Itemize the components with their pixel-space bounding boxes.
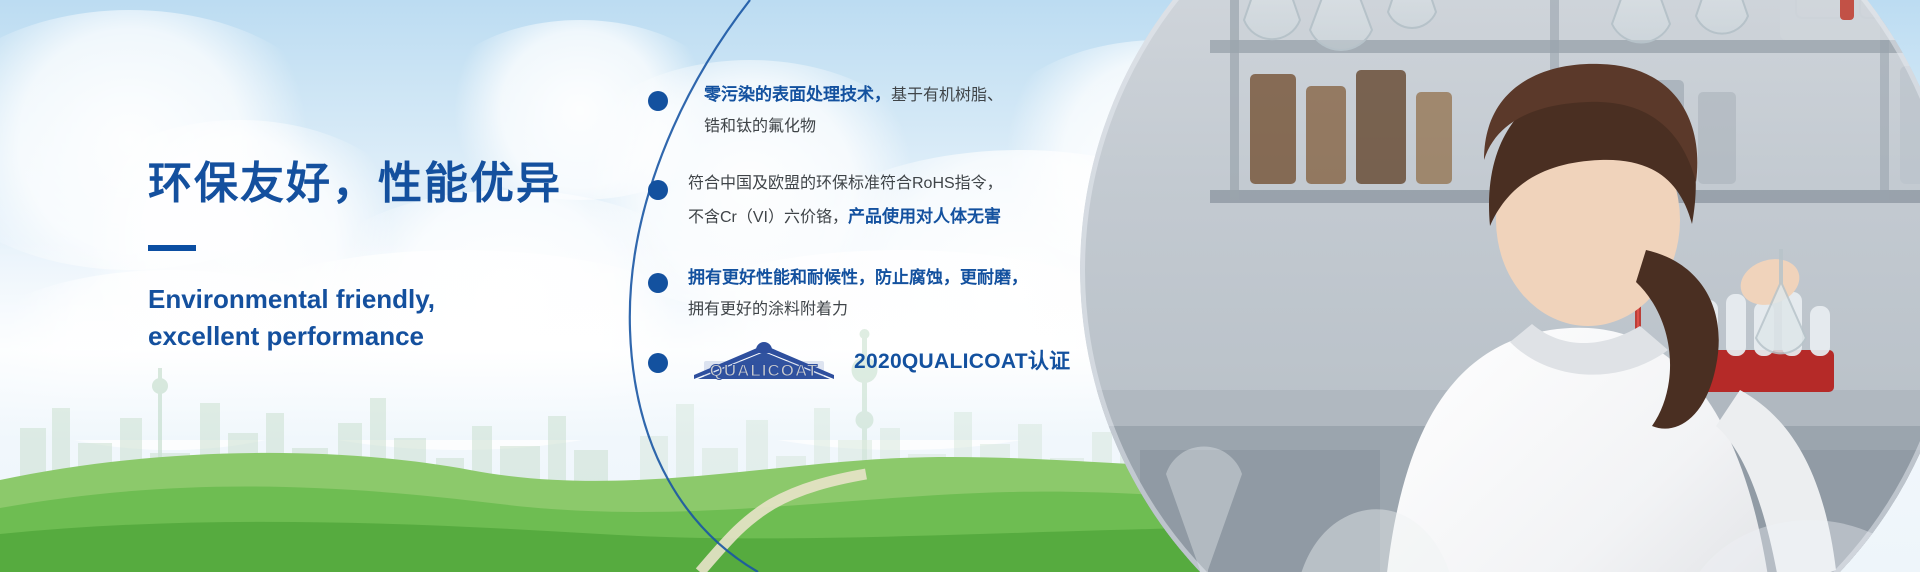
laboratory-photo-image bbox=[1080, 0, 1920, 572]
certification-label: 2020QUALICOAT认证 bbox=[854, 342, 1070, 383]
page-subtitle-en: Environmental friendly, excellent perfor… bbox=[148, 281, 668, 355]
bullet-dot-icon bbox=[648, 91, 668, 111]
list-item-line2: 拥有更好的涂料附着力 bbox=[688, 301, 848, 318]
page-subtitle-en-line1: Environmental friendly, bbox=[148, 281, 668, 318]
title-divider bbox=[148, 245, 196, 251]
page-subtitle-en-line2: excellent performance bbox=[148, 318, 668, 355]
certification-row: QUALICOAT 2020QUALICOAT认证 bbox=[688, 341, 1168, 383]
bullet-dot-icon bbox=[648, 273, 668, 293]
list-item-emphasis: 拥有更好性能和耐候性，防止腐蚀，更耐磨， bbox=[688, 268, 1028, 287]
list-item: 拥有更好性能和耐候性，防止腐蚀，更耐磨， 拥有更好的涂料附着力 bbox=[648, 261, 1168, 325]
list-item: 零污染的表面处理技术，基于有机树脂、 锆和钛的氟化物 bbox=[648, 78, 1168, 142]
headline-block: 环保友好，性能优异 Environmental friendly, excell… bbox=[148, 158, 668, 355]
qualicoat-logo-icon: QUALICOAT bbox=[688, 341, 840, 383]
bullet-dot-icon bbox=[648, 180, 668, 200]
bullet-dot-icon bbox=[648, 353, 668, 373]
list-item: 符合中国及欧盟的环保标准符合RoHS指令， 不含Cr（VI）六价铬，产品使用对人… bbox=[648, 168, 1168, 232]
list-item-text: 拥有更好性能和耐候性，防止腐蚀，更耐磨， 拥有更好的涂料附着力 bbox=[688, 261, 1168, 325]
list-item-line2-emphasis: 产品使用对人体无害 bbox=[848, 207, 1001, 226]
feature-list: 零污染的表面处理技术，基于有机树脂、 锆和钛的氟化物 符合中国及欧盟的环保标准符… bbox=[648, 78, 1168, 413]
list-item-line2: 不含Cr（VI）六价铬， bbox=[688, 209, 848, 226]
promo-banner: 环保友好，性能优异 Environmental friendly, excell… bbox=[0, 0, 1920, 572]
list-item-rest: 基于有机树脂、 bbox=[891, 87, 1003, 104]
certification-item: QUALICOAT 2020QUALICOAT认证 bbox=[648, 341, 1168, 383]
list-item-rest: 符合中国及欧盟的环保标准符合RoHS指令， bbox=[688, 175, 1003, 192]
qualicoat-logo-text: QUALICOAT bbox=[710, 361, 819, 380]
list-item-line2: 锆和钛的氟化物 bbox=[704, 118, 816, 135]
laboratory-photo bbox=[1080, 0, 1920, 572]
page-title-cn: 环保友好，性能优异 bbox=[148, 158, 668, 211]
list-item-emphasis: 零污染的表面处理技术， bbox=[704, 85, 891, 104]
list-item-text: 零污染的表面处理技术，基于有机树脂、 锆和钛的氟化物 bbox=[704, 78, 1168, 142]
list-item-text: 符合中国及欧盟的环保标准符合RoHS指令， 不含Cr（VI）六价铬，产品使用对人… bbox=[688, 168, 1168, 232]
